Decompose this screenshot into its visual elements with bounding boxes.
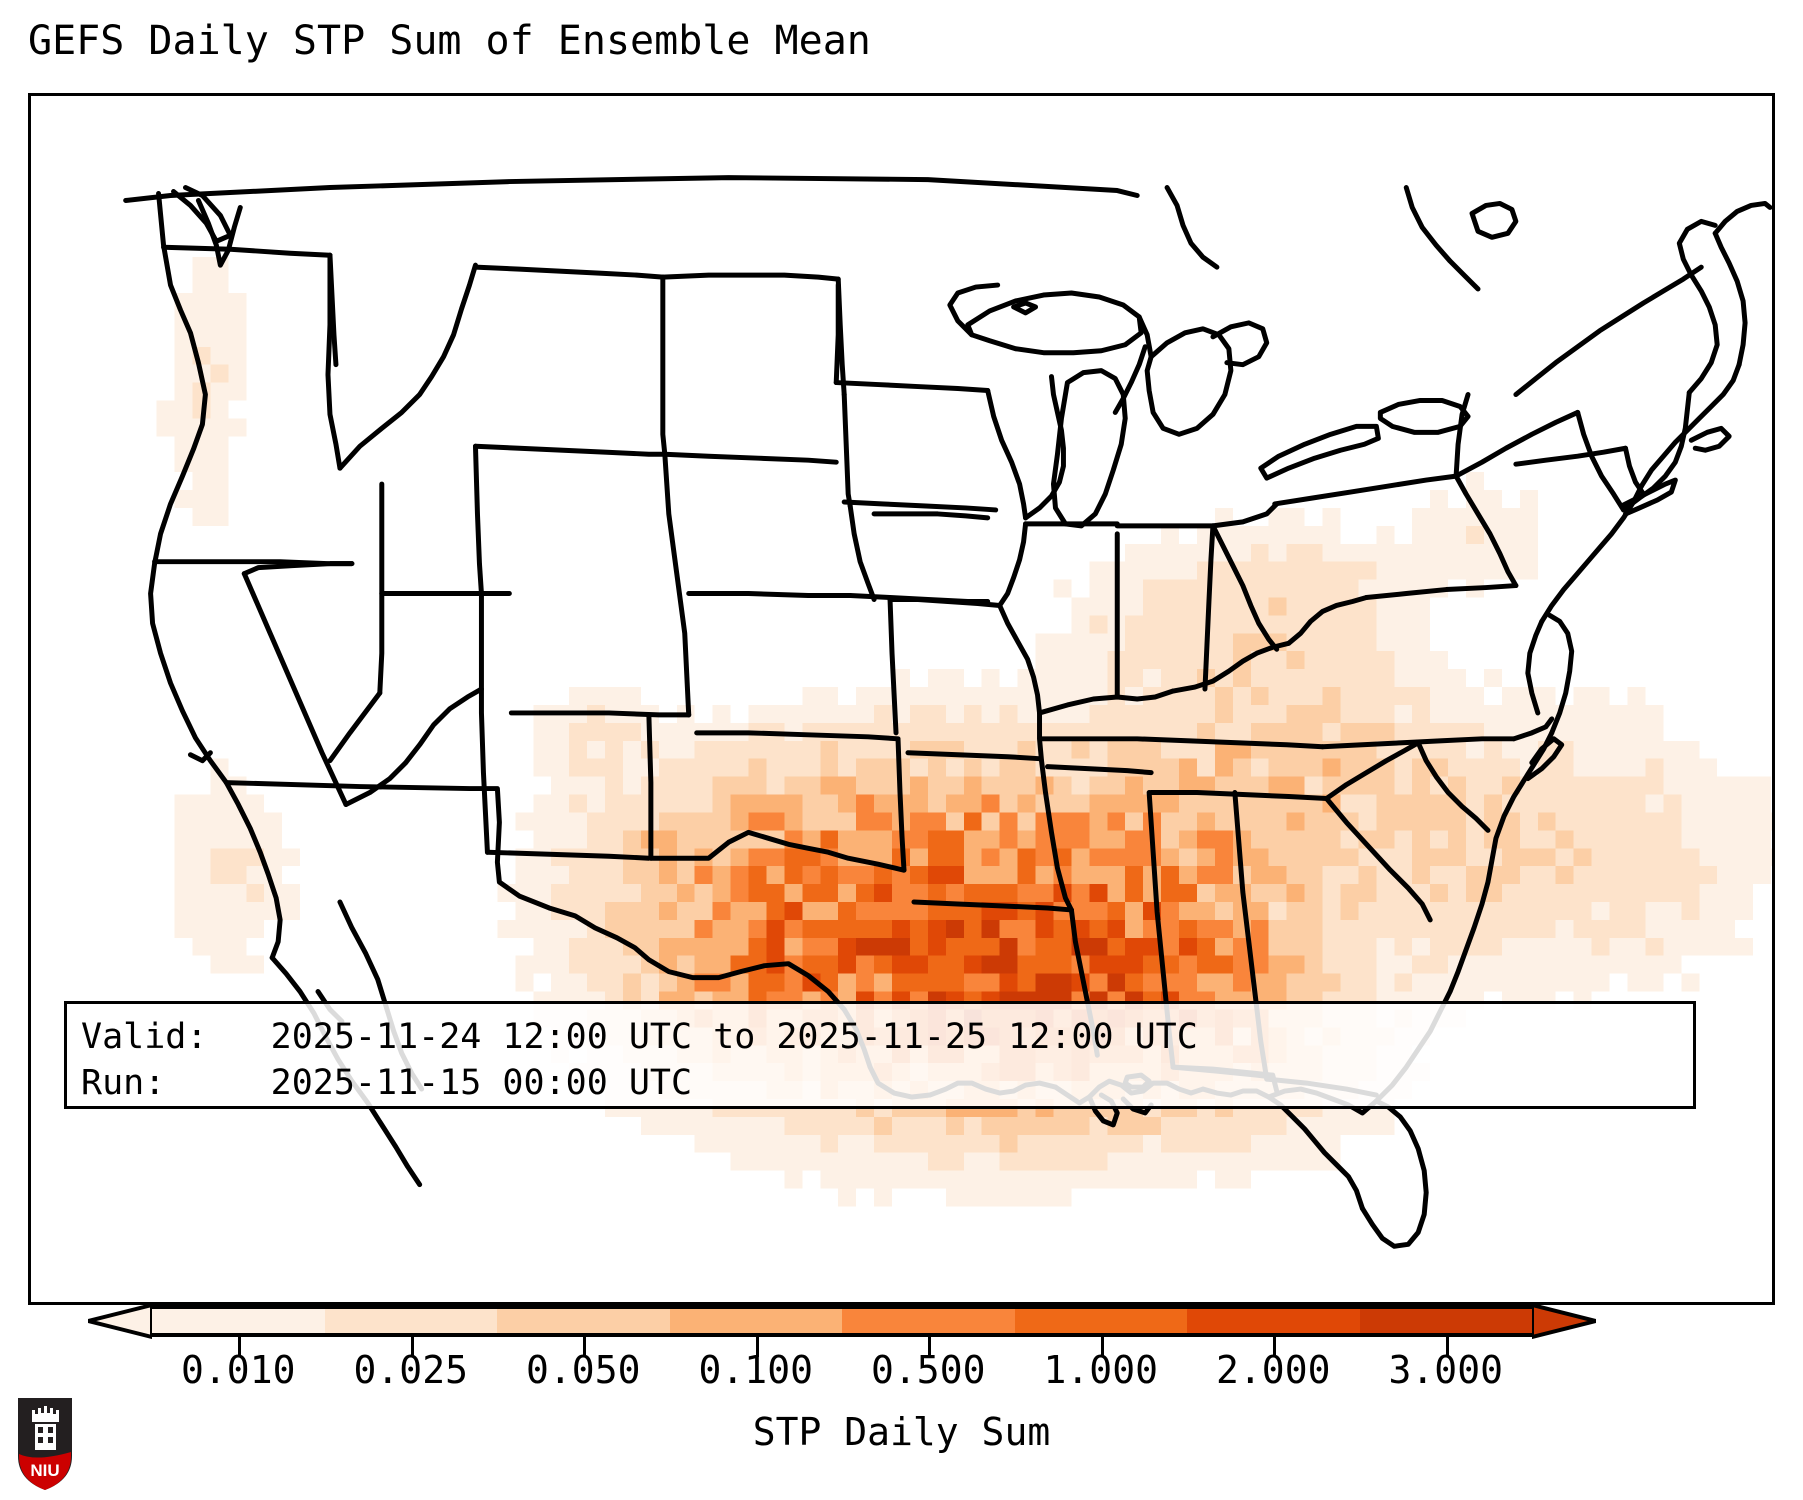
page-title: GEFS Daily STP Sum of Ensemble Mean: [28, 18, 871, 64]
border-nh-me: [1624, 393, 1690, 510]
delmarva: [1550, 615, 1572, 732]
border-nd-sd: [836, 383, 987, 391]
border-ks-ok: [697, 733, 898, 739]
lake-huron: [1147, 329, 1231, 434]
border-ky-wv-va: [1173, 643, 1289, 691]
chesapeake-bay: [1528, 621, 1542, 713]
border-va-nc-coast: [1514, 719, 1552, 739]
puget-sound: [198, 200, 240, 265]
colorbar-axis-label: STP Daily Sum: [0, 1410, 1803, 1454]
run-label: Run:: [81, 1060, 271, 1106]
border-mo-il: [1000, 605, 1040, 712]
border-ar-la: [914, 902, 1071, 910]
border-nv-ut: [380, 484, 382, 693]
map-panel[interactable]: Valid:2025-11-24 12:00 UTC to 2025-11-25…: [28, 93, 1775, 1305]
run-value: 2025-11-15 00:00 UTC: [271, 1063, 692, 1103]
canada-shield-lakes: [1167, 188, 1217, 268]
lake-erie: [1261, 426, 1379, 478]
pacific-coast: [151, 194, 227, 783]
maine-coast: [1715, 233, 1745, 364]
border-wv-va: [1289, 598, 1367, 644]
border-nd-sd-mn-vert: [836, 285, 838, 383]
colorbar-band-0: [152, 1309, 325, 1333]
border-pa-nj: [1456, 476, 1516, 585]
border-tn-ky: [1042, 739, 1323, 747]
colorbar-tick-label-2: 0.050: [526, 1348, 640, 1392]
border-ca-nv-diag: [244, 574, 346, 805]
border-pa-md-de: [1366, 586, 1515, 598]
canada-maritime: [1715, 203, 1770, 233]
border-wv-oh: [1213, 526, 1277, 649]
border-ks-mo: [890, 599, 896, 732]
border-mo-ar: [908, 753, 1040, 759]
border-ma-ct-ri: [1626, 448, 1644, 494]
florida-peninsula: [1362, 1101, 1426, 1246]
geography-layer: [31, 96, 1772, 1302]
border-wy-sd-ne: [665, 454, 836, 462]
colorbar-extend-low-outline: [88, 1303, 152, 1339]
colorbar-tick-label-7: 3.000: [1389, 1348, 1503, 1392]
map-clip: Valid:2025-11-24 12:00 UTC to 2025-11-25…: [31, 96, 1772, 1302]
colorbar-tick-label-6: 2.000: [1216, 1348, 1330, 1392]
valid-label: Valid:: [81, 1014, 271, 1060]
border-az-nm: [481, 594, 487, 853]
quebec-lake: [1472, 203, 1516, 237]
colorbar-band-2: [497, 1309, 670, 1333]
border-ne-ia: [850, 506, 874, 600]
border-ia-il-miss: [1000, 524, 1026, 606]
isle-royale: [1014, 303, 1036, 313]
hudson-area: [1406, 188, 1478, 289]
colorbar[interactable]: [62, 1300, 1742, 1342]
border-vt-nh: [1578, 412, 1624, 510]
border-wy-ut-co: [475, 446, 664, 454]
border-me-canada: [1679, 221, 1717, 392]
border-ok-tx: [651, 832, 904, 870]
border-nm-tx: [487, 852, 648, 858]
colorbar-band-7: [1360, 1309, 1533, 1333]
border-ar-ms: [1042, 761, 1072, 910]
colorbar-tick-label-1: 0.025: [354, 1348, 468, 1392]
border-mt-wy: [475, 267, 662, 277]
border-mn-wi: [988, 391, 1026, 518]
border-ut-co: [475, 446, 481, 593]
border-in-oh: [1205, 526, 1213, 689]
border-ga-sc: [1327, 799, 1431, 920]
georgian-bay: [1213, 323, 1267, 365]
border-co-ks-ne: [689, 594, 850, 596]
border-sd-mn: [844, 395, 850, 506]
border-ms-tn: [1047, 767, 1151, 773]
colorbar-tick-label-3: 0.100: [699, 1348, 813, 1392]
border-tn-al-ga: [1151, 793, 1326, 799]
colorbar-tick-labels: 0.0100.0250.0500.1000.5001.0002.0003.000: [0, 1348, 1803, 1398]
mexico-border: [226, 783, 844, 1010]
valid-line: Valid:2025-11-24 12:00 UTC to 2025-11-25…: [81, 1014, 1693, 1060]
border-mn-ia: [874, 514, 988, 518]
border-wa-or: [164, 247, 330, 255]
colorbar-band-4: [842, 1309, 1015, 1333]
border-ok-ar: [898, 739, 904, 870]
colorbar-bands[interactable]: [152, 1305, 1532, 1337]
colorbar-band-1: [325, 1309, 498, 1333]
california-coast: [226, 783, 280, 958]
niu-logo-text: NIU: [30, 1461, 59, 1480]
border-ca-nv: [244, 564, 352, 574]
run-line: Run:2025-11-15 00:00 UTC: [81, 1060, 1693, 1106]
new-england-coast: [1641, 365, 1739, 486]
colorbar-band-6: [1187, 1309, 1360, 1333]
cape-cod: [1691, 428, 1729, 450]
lake-superior: [968, 293, 1141, 353]
border-pa-ny: [1275, 476, 1456, 504]
lake-ontario: [1380, 400, 1468, 432]
valid-value: 2025-11-24 12:00 UTC to 2025-11-25 12:00…: [271, 1017, 1198, 1057]
border-mi-oh: [1213, 504, 1277, 526]
colorbar-band-3: [670, 1309, 843, 1333]
colorbar-tick-label-4: 0.500: [871, 1348, 985, 1392]
border-tn-nc: [1327, 743, 1419, 799]
border-mt-nd: [663, 275, 838, 279]
border-co-east: [665, 454, 689, 715]
outer-banks: [1528, 739, 1562, 779]
colorbar-extend-high-outline: [1532, 1303, 1596, 1339]
border-nm-tx-v: [649, 715, 651, 858]
border-sd-ne: [844, 502, 995, 510]
niu-logo: NIU: [14, 1396, 76, 1492]
us-canada-border: [126, 178, 1138, 201]
border-id-mt: [340, 265, 476, 468]
border-ny-vt-nh: [1456, 412, 1578, 476]
st-lawrence: [1516, 267, 1701, 394]
border-ny-ct-ma: [1516, 448, 1626, 464]
border-wy-east: [663, 277, 665, 454]
colorbar-tick-label-0: 0.010: [181, 1348, 295, 1392]
colorbar-tick-label-5: 1.000: [1044, 1348, 1158, 1392]
border-nv-az: [330, 693, 380, 761]
border-mi-up: [1115, 347, 1145, 413]
border-sc-nc: [1418, 743, 1488, 831]
colorbar-band-5: [1015, 1309, 1188, 1333]
border-co-nm: [511, 713, 688, 715]
border-ky-il-in: [1040, 691, 1174, 713]
valid-run-info-box: Valid:2025-11-24 12:00 UTC to 2025-11-25…: [64, 1001, 1696, 1109]
